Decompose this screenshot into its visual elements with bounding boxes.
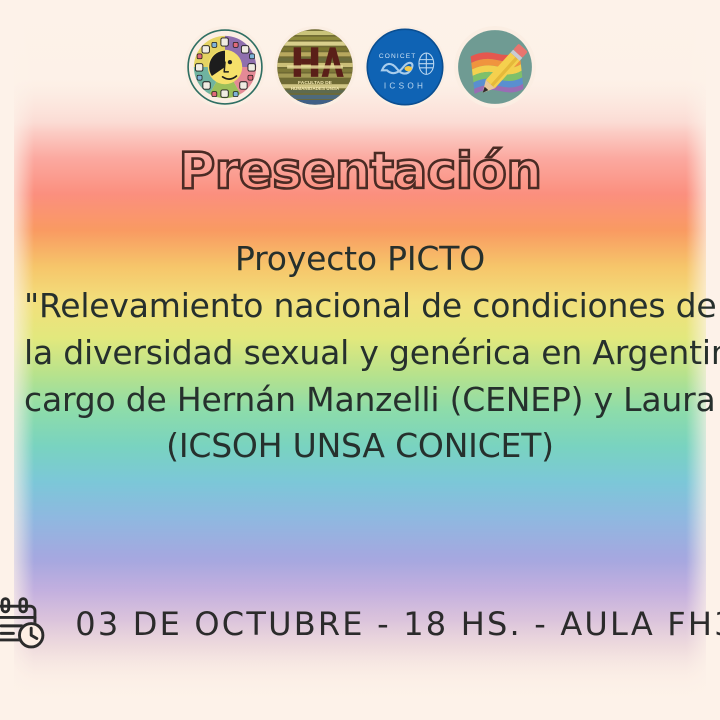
conicet-icsoh-logo: CONICET ICSOH [364,26,446,108]
description-line: "Relevamiento nacional de condiciones de… [24,283,696,330]
event-poster: FACULTAD DE HUMANIDADES UNSA CONICET [0,0,720,720]
description-line: la diversidad sexual y genérica en Argen… [24,330,696,377]
event-datetime-text: 03 DE OCTUBRE - 18 HS. - AULA FH3 [75,605,720,643]
svg-text:HUMANIDADES UNSA: HUMANIDADES UNSA [291,86,340,91]
calendar-clock-icon [0,594,49,654]
description-line: Proyecto PICTO [24,236,696,283]
institution-logo-row: FACULTAD DE HUMANIDADES UNSA CONICET [0,26,720,108]
svg-text:ICSOH: ICSOH [384,81,426,90]
pictogram-sun-emblem-logo [184,26,266,108]
facultad-humanidades-unsa-logo: FACULTAD DE HUMANIDADES UNSA [274,26,356,108]
svg-text:CONICET: CONICET [379,53,417,60]
description-line: cargo de Hernán Manzelli (CENEP) y Laura… [24,377,696,424]
event-datetime-bar: 03 DE OCTUBRE - 18 HS. - AULA FH3 [0,594,720,654]
event-description: Proyecto PICTO "Relevamiento nacional de… [24,236,696,470]
description-line: (ICSOH UNSA CONICET) [24,423,696,470]
rainbow-flag-pencil-logo [454,26,536,108]
page-title: Presentación [0,146,720,196]
